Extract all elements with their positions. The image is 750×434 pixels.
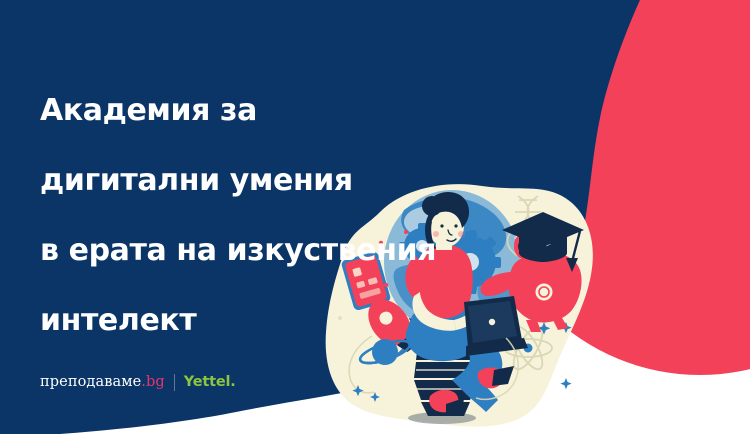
logo-divider xyxy=(174,374,175,391)
headline-line-2: дигитални умения xyxy=(40,163,540,198)
logo-prepodavame[interactable]: преподаваме.bg xyxy=(40,374,165,390)
promo-banner: Жена с лаптоп, седяща върху купчина книг… xyxy=(0,0,750,434)
headline-line-4: интелект xyxy=(40,303,540,338)
page-title: Академия за дигитални умения в ерата на … xyxy=(40,58,540,373)
logo-lockup[interactable]: преподаваме.bg Yettel. xyxy=(40,372,236,392)
logo-prepodavame-tld: .bg xyxy=(141,374,164,390)
logo-yettel[interactable]: Yettel. xyxy=(184,374,236,390)
headline-line-3: в ерата на изкуствения xyxy=(40,233,540,268)
headline-line-1: Академия за xyxy=(40,93,540,128)
logo-prepodavame-name: преподаваме xyxy=(40,374,141,390)
